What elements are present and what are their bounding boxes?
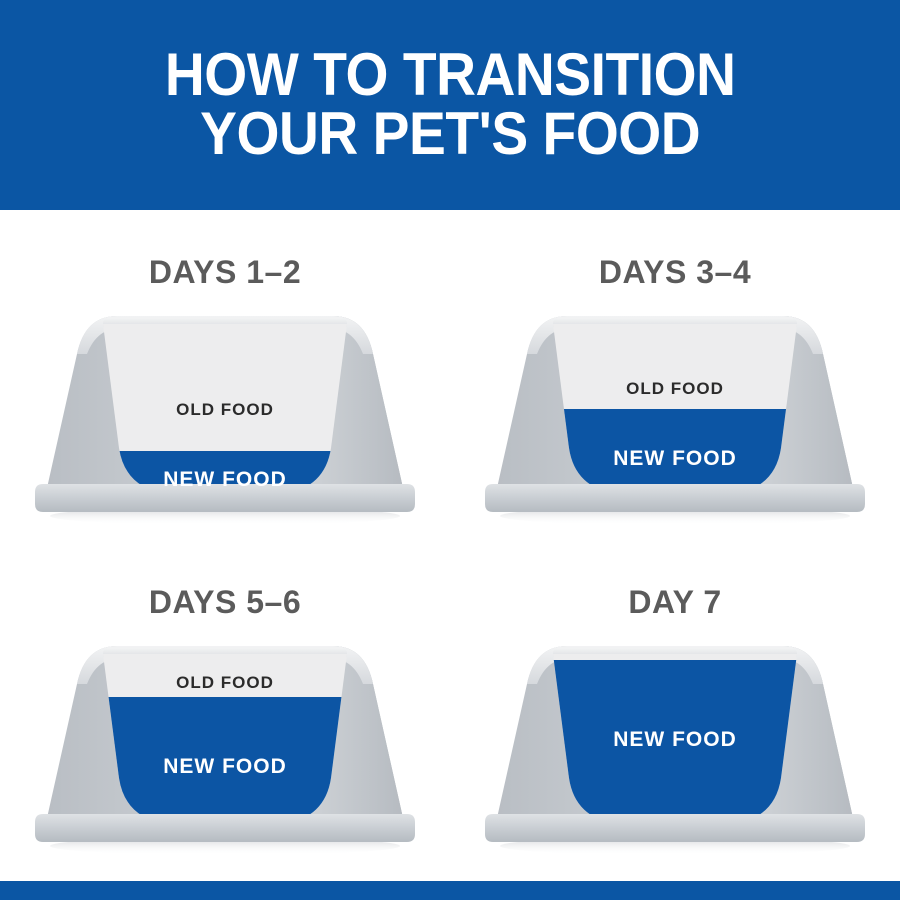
step-title: DAY 7 [450, 584, 900, 621]
step-card-days-5-6: DAYS 5–6 [0, 560, 450, 890]
infographic-page: HOW TO TRANSITION YOUR PET'S FOOD DAYS 1… [0, 0, 900, 900]
header-banner: HOW TO TRANSITION YOUR PET'S FOOD [0, 0, 900, 210]
footer-banner [0, 881, 900, 900]
bowl-illustration [475, 628, 875, 878]
bowl-days-3-4: OLD FOOD NEW FOOD [475, 298, 875, 548]
bowl-days-5-6: OLD FOOD NEW FOOD [25, 628, 425, 878]
step-title: DAYS 5–6 [0, 584, 450, 621]
bowl-days-1-2: OLD FOOD NEW FOOD [25, 298, 425, 548]
step-card-day-7: DAY 7 [450, 560, 900, 890]
bowl-illustration [25, 628, 425, 878]
step-card-days-3-4: DAYS 3–4 [450, 230, 900, 560]
page-title: HOW TO TRANSITION YOUR PET'S FOOD [146, 46, 754, 164]
bowl-illustration [475, 298, 875, 548]
new-food-fill [545, 660, 805, 831]
step-title: DAYS 3–4 [450, 254, 900, 291]
bowl-illustration [25, 298, 425, 548]
bowl-day-7: NEW FOOD [475, 628, 875, 878]
steps-grid: DAYS 1–2 [0, 210, 900, 881]
step-card-days-1-2: DAYS 1–2 [0, 230, 450, 560]
step-title: DAYS 1–2 [0, 254, 450, 291]
